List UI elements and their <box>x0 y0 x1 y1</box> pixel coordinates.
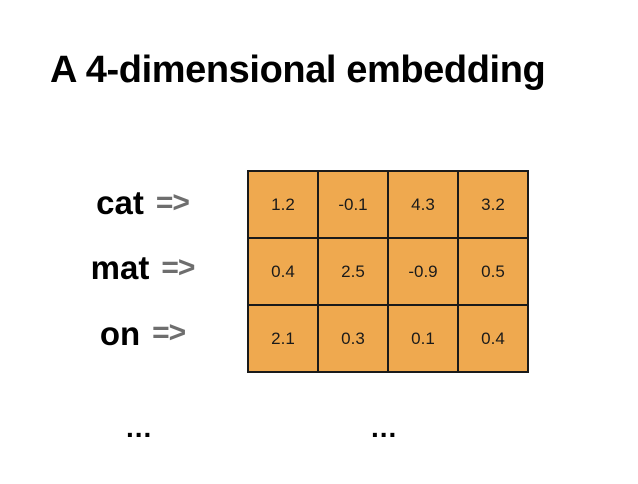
word-label-column: cat => mat => on => <box>40 170 245 366</box>
table-row: 1.2 -0.1 4.3 3.2 <box>248 171 528 238</box>
word-row-on: on => <box>40 301 245 366</box>
ellipsis-vectors: ... <box>371 414 397 442</box>
word-row-cat: cat => <box>40 170 245 235</box>
matrix-cell: 2.1 <box>248 305 318 372</box>
matrix-cell: 0.3 <box>318 305 388 372</box>
table-row: 2.1 0.3 0.1 0.4 <box>248 305 528 372</box>
word-label-on: on <box>100 317 140 350</box>
page-title: A 4-dimensional embedding <box>50 50 610 92</box>
word-label-mat: mat <box>91 251 150 284</box>
table-row: 0.4 2.5 -0.9 0.5 <box>248 238 528 305</box>
word-label-cat: cat <box>96 186 144 219</box>
ellipsis-words: ... <box>126 414 152 442</box>
matrix-cell: 0.4 <box>458 305 528 372</box>
matrix-cell: -0.9 <box>388 238 458 305</box>
arrow-icon-mat: => <box>161 253 194 283</box>
matrix-cell: 0.4 <box>248 238 318 305</box>
matrix-cell: -0.1 <box>318 171 388 238</box>
matrix-cell: 4.3 <box>388 171 458 238</box>
arrow-icon-cat: => <box>156 188 189 218</box>
matrix-cell: 0.5 <box>458 238 528 305</box>
matrix-cell: 3.2 <box>458 171 528 238</box>
word-row-mat: mat => <box>40 235 245 300</box>
matrix-cell: 1.2 <box>248 171 318 238</box>
embedding-matrix: 1.2 -0.1 4.3 3.2 0.4 2.5 -0.9 0.5 2.1 0.… <box>247 170 529 373</box>
matrix-cell: 2.5 <box>318 238 388 305</box>
arrow-icon-on: => <box>152 318 185 348</box>
matrix-cell: 0.1 <box>388 305 458 372</box>
slide-canvas: A 4-dimensional embedding cat => mat => … <box>0 0 638 484</box>
